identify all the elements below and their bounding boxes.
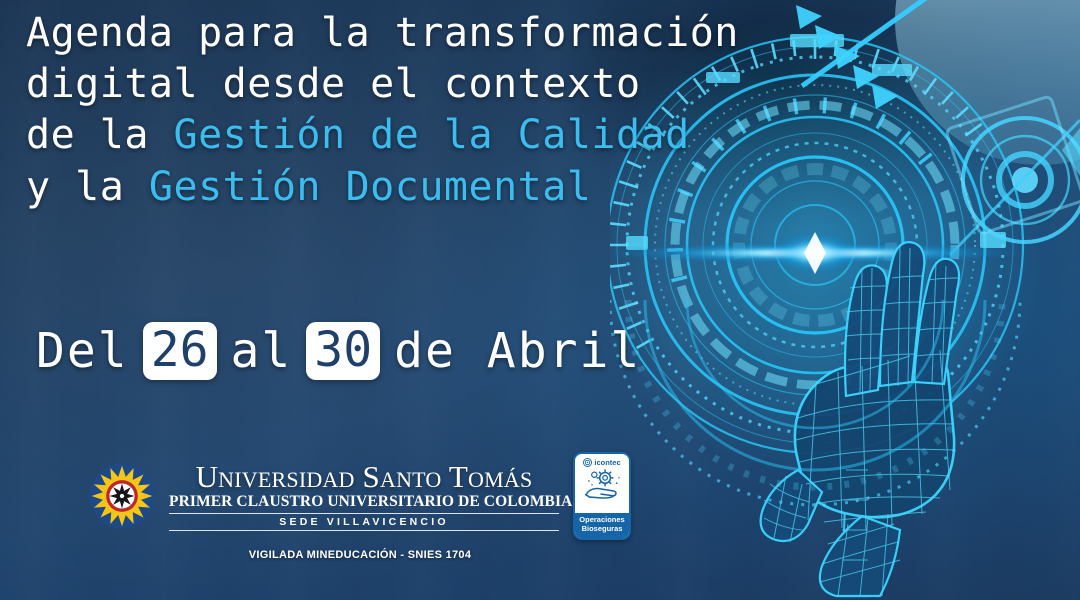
date-prefix: Del <box>30 323 135 379</box>
icontec-badge: icontec <box>573 452 631 540</box>
event-date: Del 26 al 30 de Abril <box>30 322 647 380</box>
icontec-badge-top: icontec <box>575 454 629 513</box>
headline-line-3-plain: de la <box>26 112 174 158</box>
legal-notice: VIGILADA MINEDUCACIÓN - SNIES 1704 <box>0 549 720 561</box>
date-month: de Abril <box>388 323 647 379</box>
university-campus: SEDE VILLAVICENCIO <box>169 514 559 531</box>
icontec-band-line-2: Bioseguras <box>576 525 628 534</box>
event-banner: Agenda para la transformación digital de… <box>0 0 1080 600</box>
headline-line-3-accent: Gestión de la Calidad <box>174 112 690 158</box>
logo-row: Universidad Santo Tomás PRIMER CLAUSTRO … <box>0 452 720 540</box>
gear-in-hand-icon <box>582 467 622 501</box>
university-tagline: PRIMER CLAUSTRO UNIVERSITARIO DE COLOMBI… <box>169 493 559 513</box>
headline-line-3: de la Gestión de la Calidad <box>26 110 786 161</box>
date-day-start: 26 <box>143 322 217 380</box>
icontec-mark-icon <box>583 458 592 467</box>
university-name: Universidad Santo Tomás <box>169 461 559 492</box>
sun-compass-seal <box>89 463 155 529</box>
headline-line-1: Agenda para la transformación <box>26 8 786 59</box>
icontec-brand-text: icontec <box>594 458 620 467</box>
headline-line-4-plain: y la <box>26 164 149 210</box>
footer: Universidad Santo Tomás PRIMER CLAUSTRO … <box>0 452 720 561</box>
headline: Agenda para la transformación digital de… <box>26 8 786 213</box>
headline-line-4: y la Gestión Documental <box>26 162 786 213</box>
icontec-wordmark: icontec <box>583 458 620 467</box>
headline-line-2: digital desde el contexto <box>26 59 786 110</box>
icontec-badge-band: Operaciones Bioseguras <box>575 513 629 538</box>
date-day-end: 30 <box>306 322 380 380</box>
headline-line-4-accent: Gestión Documental <box>149 164 591 210</box>
date-middle: al <box>225 323 299 379</box>
university-wordmark: Universidad Santo Tomás PRIMER CLAUSTRO … <box>169 461 559 530</box>
